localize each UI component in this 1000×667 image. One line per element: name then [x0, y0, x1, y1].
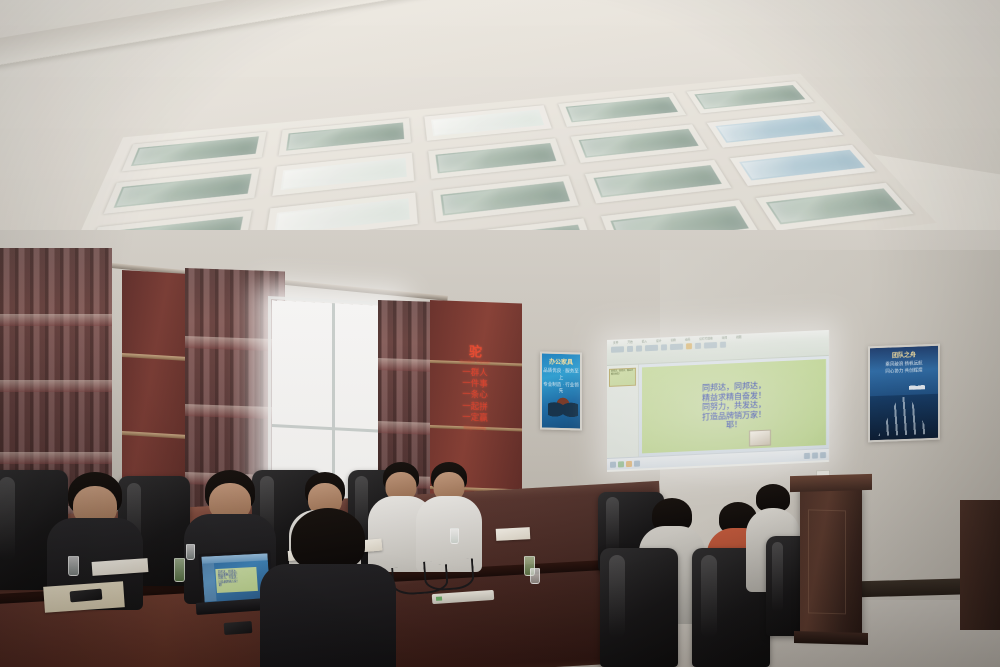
ceiling-panel-8 [428, 138, 565, 179]
slide-thumbnail-1[interactable]: 同邦达，同邦达，精益求精自奋发！ [609, 368, 636, 387]
plaque-slogan-line-4: 一起拼 [462, 400, 488, 412]
company-logo-mark: 驼 [469, 345, 481, 358]
tray-volume-icon[interactable] [812, 452, 818, 458]
paste-icon [611, 346, 624, 353]
ceiling-panel-6 [104, 168, 260, 213]
find-icon [720, 342, 726, 348]
company-logo-text: Golden Camel [460, 359, 490, 365]
ceiling-panel-9 [571, 124, 708, 162]
tea-glass-4 [450, 528, 459, 544]
ceiling-panel-2 [278, 118, 410, 156]
tea-glass-6 [530, 568, 540, 584]
ribbon-tab-5[interactable]: 切换 [669, 338, 678, 342]
lectern-secondary [960, 500, 1000, 630]
ceiling-panel-14 [585, 160, 732, 204]
ribbon-tab-6[interactable]: 动画 [683, 337, 692, 341]
arrange-icon [695, 343, 701, 349]
tea-glass-2 [174, 558, 185, 582]
chair-right-1 [600, 548, 678, 667]
plaque-slogan-en: Responsibility [464, 426, 486, 431]
poster-right-sub-1: 同心协力 共创辉煌 [870, 366, 938, 375]
ribbon-tab-2[interactable]: 开始 [625, 340, 634, 344]
shape-fill-icon [686, 343, 692, 349]
align-icon [661, 344, 667, 350]
powerpoint-workspace: 同邦达，同邦达，精益求精自奋发！ 同邦达，同邦达，精益求精自奋发！同努力，共发达… [607, 356, 829, 458]
lectern-top [790, 474, 872, 492]
tea-glass-3 [186, 544, 195, 560]
ceiling-panel-1 [122, 132, 267, 172]
wall-poster-right: 团队之舟 乘风破浪 扬帆远航 同心协力 共创辉煌 [868, 344, 940, 443]
ceiling-panel-7 [272, 153, 414, 196]
person-front-center [258, 508, 398, 667]
slide-clipart-image [749, 430, 771, 447]
browser-icon[interactable] [634, 460, 640, 466]
company-slogan-plaque: 驼 Golden Camel 一群人一件事一条心一起拼一定赢 Responsib… [446, 340, 504, 460]
lectern-front-panel [808, 509, 846, 614]
ceiling-panel-5 [687, 81, 814, 113]
clock-icon [820, 452, 826, 458]
ceiling-panel-3 [424, 105, 552, 141]
powerpoint-taskbar-icon[interactable] [626, 460, 632, 466]
ribbon-tab-9[interactable]: 视图 [734, 335, 743, 339]
laptop-slide-preview: 同邦达，同邦达，精益求精自奋发！同努力，共发达，打造品牌销万家！耶！ [216, 567, 259, 593]
ceiling-panel-10 [707, 111, 843, 147]
meeting-room-photo: 驼 Golden Camel 一群人一件事一条心一起拼一定赢 Responsib… [0, 0, 1000, 667]
ribbon-tab-8[interactable]: 审阅 [720, 335, 729, 339]
slide-thumbnail-pane[interactable]: 同邦达，同邦达，精益求精自奋发！ [607, 365, 639, 458]
slide-line-5: 耶！ [726, 420, 742, 430]
plaque-slogan-line-3: 一条心 [462, 389, 488, 401]
ceiling-panel-13 [432, 175, 579, 222]
tray-network-icon[interactable] [804, 452, 810, 458]
smartphone-2 [224, 621, 253, 635]
laptop-thumbnail-pane[interactable] [202, 563, 216, 601]
lectern-base [794, 631, 868, 645]
wall-poster-left: 办公家具 品质优良 · 服务至上 专业制造 · 行业领先 [540, 351, 582, 430]
poster-left-text: 办公家具 品质优良 · 服务至上 专业制造 · 行业领先 [542, 359, 580, 396]
ribbon-tab-1[interactable]: 文件 [611, 340, 620, 344]
font-box-icon [645, 345, 658, 352]
tea-glass-1 [68, 556, 79, 576]
ribbon-tab-7[interactable]: 幻灯片放映 [697, 336, 714, 341]
lectern [800, 485, 862, 637]
poster-left-sub-0: 品质优良 · 服务至上 [542, 368, 580, 382]
poster-right-text: 团队之舟 乘风破浪 扬帆远航 同心协力 共创辉煌 [870, 351, 938, 376]
italic-icon [636, 345, 642, 351]
ceiling-panel-15 [730, 145, 876, 187]
ribbon-tab-4[interactable]: 设计 [654, 338, 663, 342]
poster-left-chairs-graphic [548, 394, 578, 421]
ceiling-panel-4 [558, 93, 686, 127]
papers-4 [496, 527, 531, 541]
slide-editing-stage[interactable]: 同邦达，同邦达，精益求精自奋发！同努力，共发达，打造品牌销万家！耶！ [639, 356, 829, 457]
power-switch-indicator [436, 596, 442, 600]
shapes-icon [670, 344, 683, 351]
explorer-icon[interactable] [618, 461, 624, 467]
seagull-icon [909, 383, 925, 390]
ribbon-tab-3[interactable]: 插入 [640, 339, 649, 343]
ceiling-panel-20 [756, 183, 914, 231]
editing-icon [704, 342, 717, 349]
person-back-right [414, 462, 484, 570]
bold-icon [627, 346, 633, 352]
plaque-slogan-line-5: 一定赢 [462, 411, 488, 423]
projection-screen: 文件开始插入设计切换动画幻灯片放映审阅视图 同邦达，同邦达，精益求精自奋发！ [607, 330, 829, 472]
plaque-slogan: 一群人一件事一条心一起拼一定赢 [462, 367, 488, 424]
presentation-slide: 同邦达，同邦达，精益求精自奋发！同努力，共发达，打造品牌销万家！耶！ [642, 359, 826, 453]
start-button-icon[interactable] [610, 461, 616, 467]
